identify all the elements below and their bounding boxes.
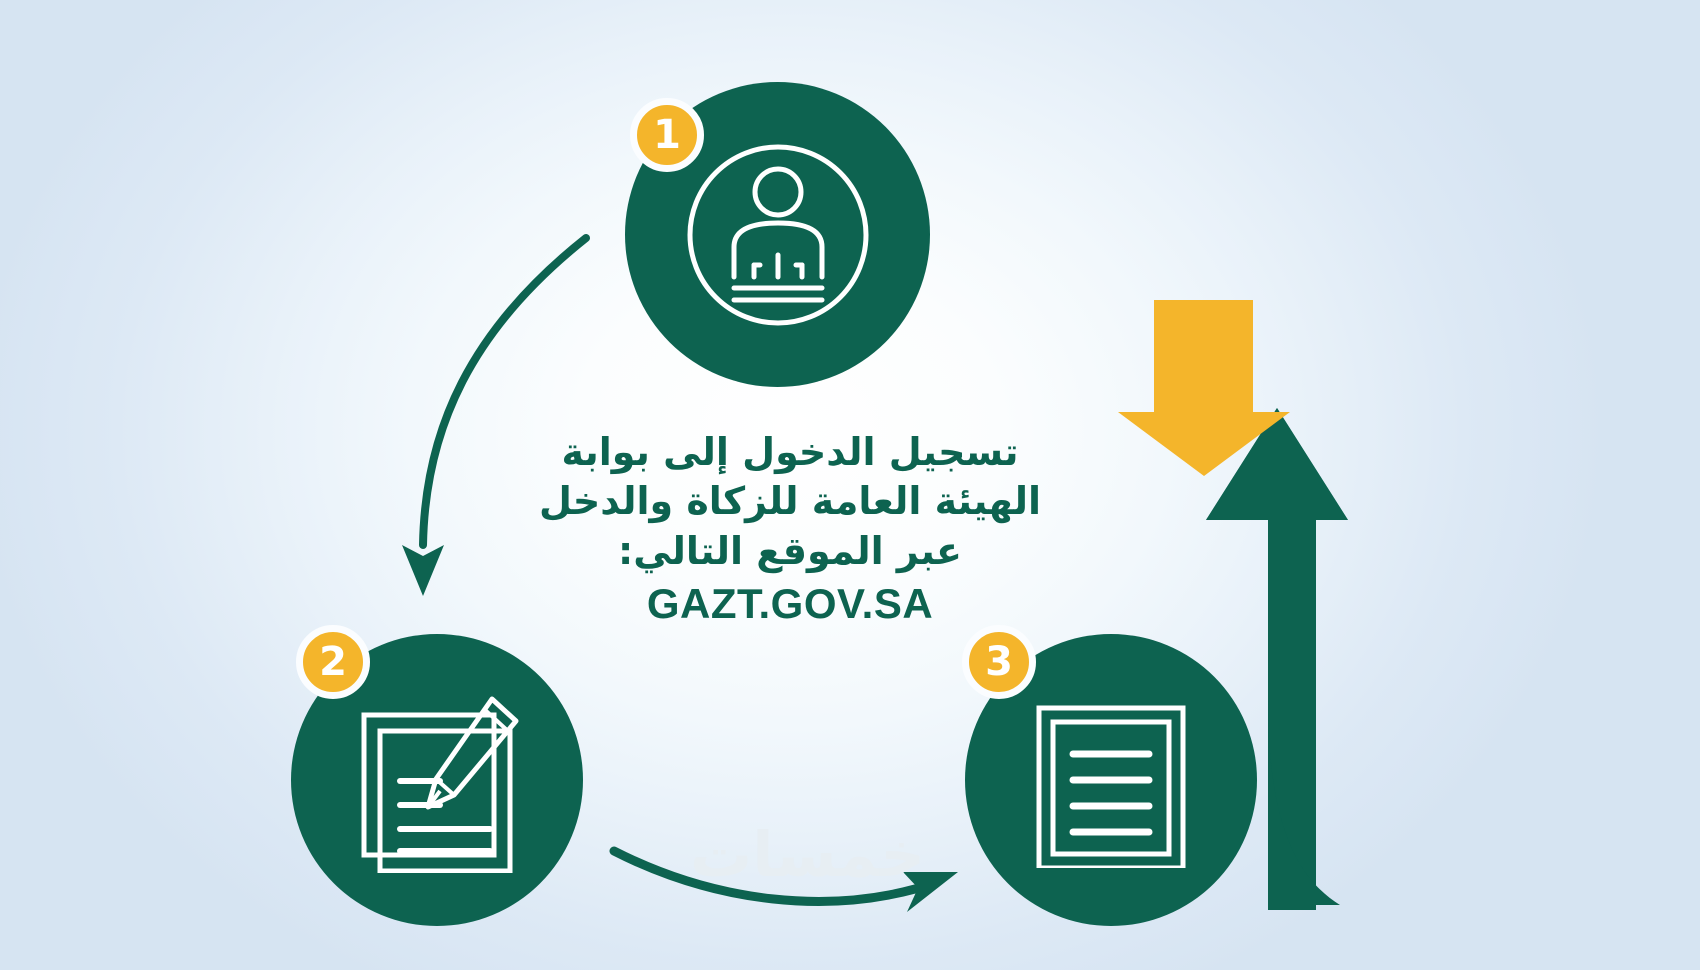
portal-url[interactable]: GAZT.GOV.SA — [430, 580, 1150, 628]
caption-line-2: الهيئة العامة للزكاة والدخل — [430, 477, 1150, 526]
user-profile-icon — [680, 137, 876, 333]
step-3-number: 3 — [985, 642, 1013, 682]
form-edit-pencil-icon — [344, 687, 530, 873]
infographic-canvas: 1 2 — [0, 0, 1700, 970]
document-lines-icon — [1023, 692, 1199, 868]
step-2-number: 2 — [319, 642, 347, 682]
watermark-text: خمسات — [690, 818, 925, 891]
caption-line-3: عبر الموقع التالي: — [430, 527, 1150, 576]
step-3-number-badge: 3 — [962, 625, 1036, 699]
caption-line-1: تسجيل الدخول إلى بوابة — [430, 428, 1150, 477]
step-1-number: 1 — [653, 115, 681, 155]
step-1-number-badge: 1 — [630, 98, 704, 172]
caption-block: تسجيل الدخول إلى بوابة الهيئة العامة للز… — [430, 428, 1150, 628]
step-2-number-badge: 2 — [296, 625, 370, 699]
